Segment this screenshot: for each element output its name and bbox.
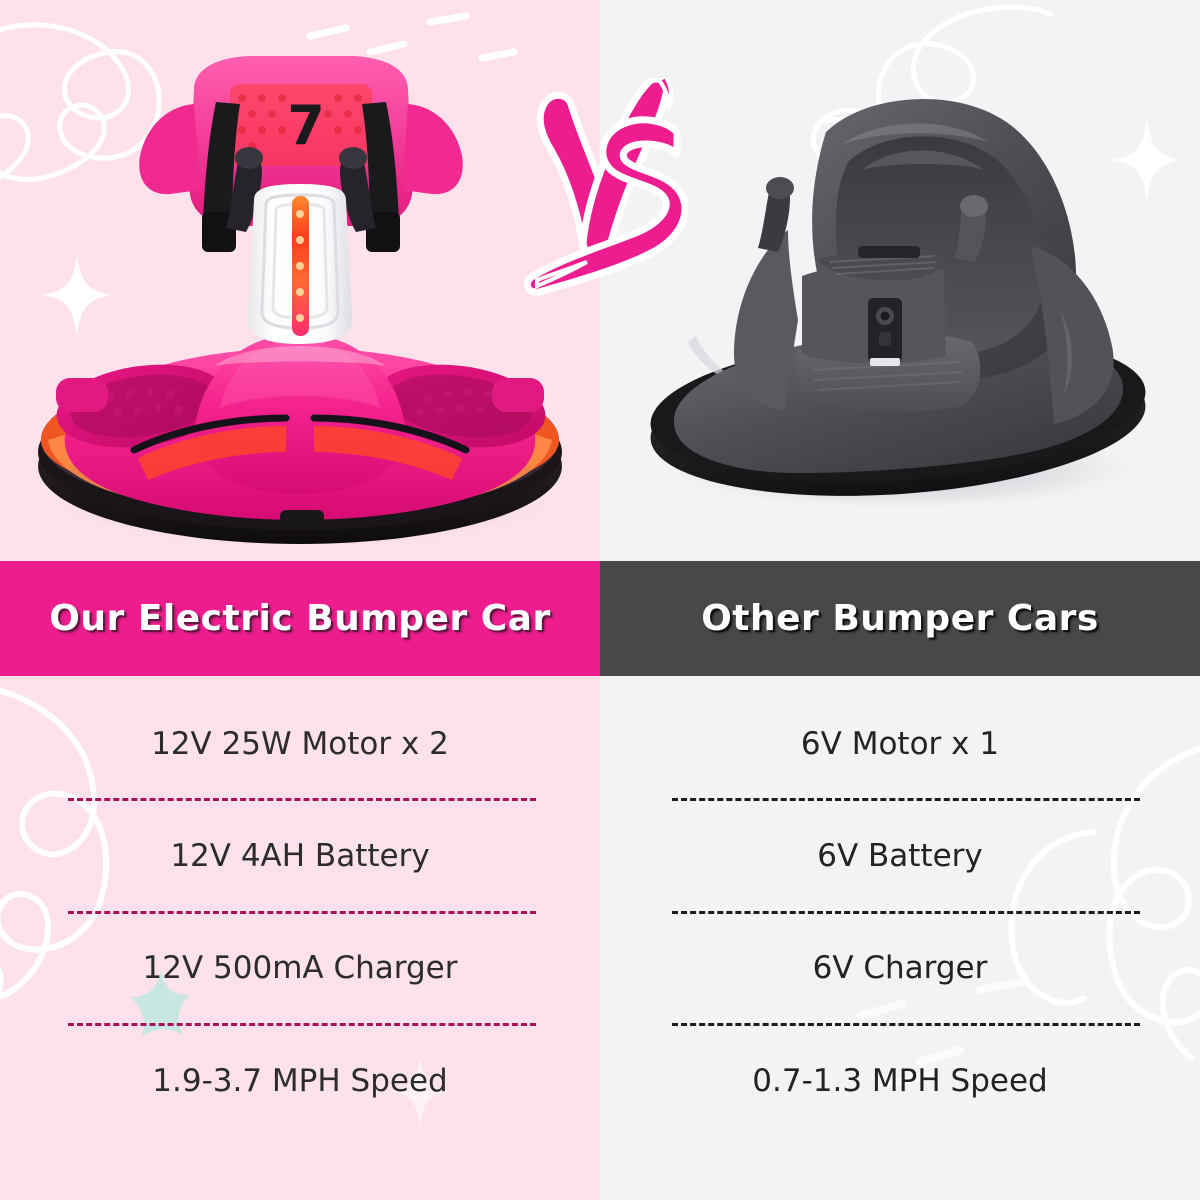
spec-others-row-2: 6V Battery	[600, 838, 1200, 874]
product-photo-area: 7	[0, 0, 1200, 561]
spec-divider-others-3	[672, 1023, 1140, 1026]
spec-others-row-1: 6V Motor x 1	[600, 726, 1200, 762]
header-others-label: Other Bumper Cars	[701, 598, 1099, 639]
spec-ours-row-1: 12V 25W Motor x 2	[0, 726, 600, 762]
spec-others-row-3: 6V Charger	[600, 950, 1200, 986]
versus-mark	[527, 78, 685, 292]
versus-badge: VS	[519, 78, 699, 308]
spec-column-ours: 12V 25W Motor x 2 12V 4AH Battery 12V 50…	[0, 676, 600, 1200]
column-headers: Our Electric Bumper Car Other Bumper Car…	[0, 561, 1200, 676]
spec-column-others: 6V Motor x 1 6V Battery 6V Charger 0.7-1…	[600, 676, 1200, 1200]
spec-ours-row-4: 1.9-3.7 MPH Speed	[0, 1063, 600, 1099]
product-photo-left: 7	[0, 0, 600, 561]
spec-divider-others-2	[672, 911, 1140, 914]
spec-comparison-area: 12V 25W Motor x 2 12V 4AH Battery 12V 50…	[0, 676, 1200, 1200]
pink-bumper-car-image: 7	[18, 48, 578, 548]
header-ours-label: Our Electric Bumper Car	[49, 598, 550, 639]
car-number-decal: 7	[287, 94, 325, 157]
spec-divider-others-1	[672, 798, 1140, 801]
gray-bumper-car-image	[630, 70, 1170, 510]
spec-divider-ours-2	[68, 911, 536, 914]
spec-others-row-4: 0.7-1.3 MPH Speed	[600, 1063, 1200, 1099]
spec-divider-ours-3	[68, 1023, 536, 1026]
header-others: Other Bumper Cars	[600, 561, 1200, 676]
header-ours: Our Electric Bumper Car	[0, 561, 600, 676]
spec-ours-row-3: 12V 500mA Charger	[0, 950, 600, 986]
spec-ours-row-2: 12V 4AH Battery	[0, 838, 600, 874]
spec-divider-ours-1	[68, 798, 536, 801]
comparison-infographic: 7	[0, 0, 1200, 1200]
